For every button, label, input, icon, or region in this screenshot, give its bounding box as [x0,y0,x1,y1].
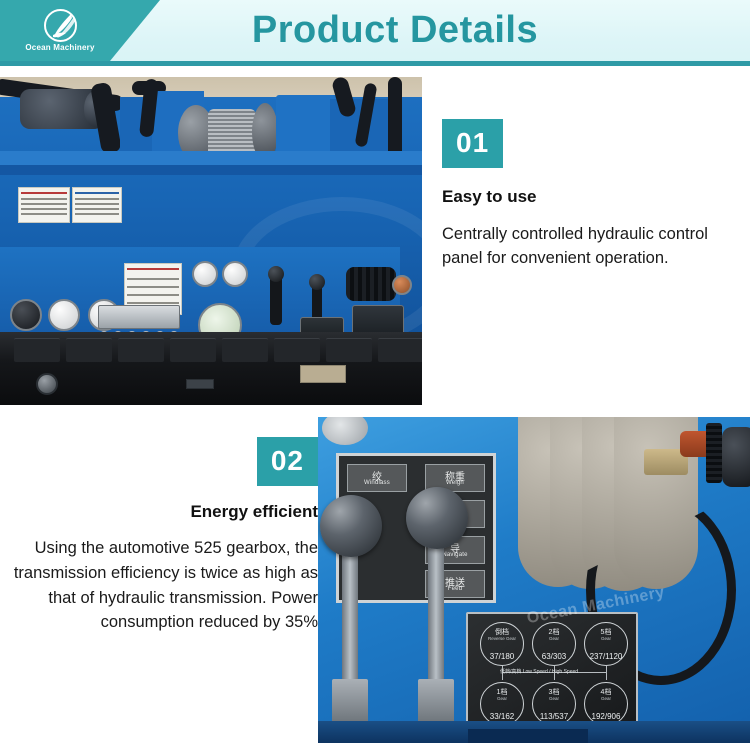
legend-cell: 绞 Windlass [347,464,407,492]
feature-01-title: Easy to use [442,187,732,207]
photo-lever-base [418,679,454,725]
gear-ratio: 33/162 [481,712,523,721]
product-details-page: Product Details Ocean Machinery [0,0,750,743]
photo-warning-plate [72,187,122,223]
legend-en: Weigh [426,480,484,486]
photo-hose-guard [706,423,722,483]
photo-bellows [346,267,396,301]
gear-en: Reverse Gear [481,636,523,641]
gear-circle: 5档 Gear 237/1120 [584,622,628,666]
feature-block-02: 02 Energy efficient Using the automotive… [0,417,750,743]
feature-block-01: Ocean Machinery 01 Easy to use Centrally… [0,77,750,405]
feature-01-number-badge: 01 [442,119,503,168]
feature-02-text: 02 Energy efficient Using the automotive… [10,437,318,635]
feature-02-body: Using the automotive 525 gearbox, the tr… [10,536,318,635]
photo-frame-rail [0,165,422,175]
gear-en: Gear [585,636,627,641]
gear-ratio: 113/537 [533,712,575,721]
photo-track-pin [186,379,214,389]
photo-gauge [192,261,218,287]
gear-ratio: 37/180 [481,652,523,661]
photo-lever-base [332,679,368,725]
header-underline [0,61,750,66]
photo-lever-knob[interactable] [406,487,468,549]
photo-lever-knob[interactable] [320,495,382,557]
feature-01-text: 01 Easy to use Centrally controlled hydr… [442,119,732,271]
gear-circle: 1档 Gear 33/162 [480,682,524,726]
photo-hose-elbow [722,427,750,487]
gear-en: Gear [585,696,627,701]
gear-ratio: 63/303 [533,652,575,661]
photo-timber-block [300,365,346,383]
gear-en: Gear [481,696,523,701]
gear-en: Gear [533,636,575,641]
ocean-bird-circle-icon [44,9,77,42]
gear-circle: 4档 Gear 192/906 [584,682,628,726]
gear-plate-mid-label: 低档/高档 Low Speed / High Speed [474,668,604,675]
feature-02-number-badge: 02 [257,437,318,486]
feature-01-body: Centrally controlled hydraulic control p… [442,223,732,271]
brand-logo[interactable]: Ocean Machinery [0,0,120,61]
photo-warning-plate [18,187,70,223]
photo-fitting [392,275,412,295]
feature-02-photo: 绞 Windlass 称重 Weigh 提 Lift 导 Navigate 推送 [318,417,750,743]
page-header: Product Details Ocean Machinery [0,0,750,66]
feature-02-title: Energy efficient [10,502,318,522]
photo-base-shadow [468,729,588,743]
photo-switch-bank [98,305,180,329]
photo-lever-shaft [342,537,358,687]
photo-roller [36,373,58,395]
photo-gauge [48,299,80,331]
legend-en: Windlass [348,480,406,486]
gear-circle: 3档 Gear 113/537 [532,682,576,726]
photo-track-assembly [0,332,422,405]
photo-lever-shaft [428,527,444,687]
photo-gauge [222,261,248,287]
photo-gauge [10,299,42,331]
gear-ratio: 237/1120 [585,652,627,661]
feature-01-photo: Ocean Machinery [0,77,422,405]
gear-circle: 2档 Gear 63/303 [532,622,576,666]
plate-connector [606,672,607,680]
gear-circle: 倒档 Reverse Gear 37/180 [480,622,524,666]
photo-gear-ratio-plate: 倒档 Reverse Gear 37/180 2档 Gear 63/303 5档… [466,612,638,734]
gear-ratio: 192/906 [585,712,627,721]
photo-joystick [270,275,282,325]
gear-en: Gear [533,696,575,701]
